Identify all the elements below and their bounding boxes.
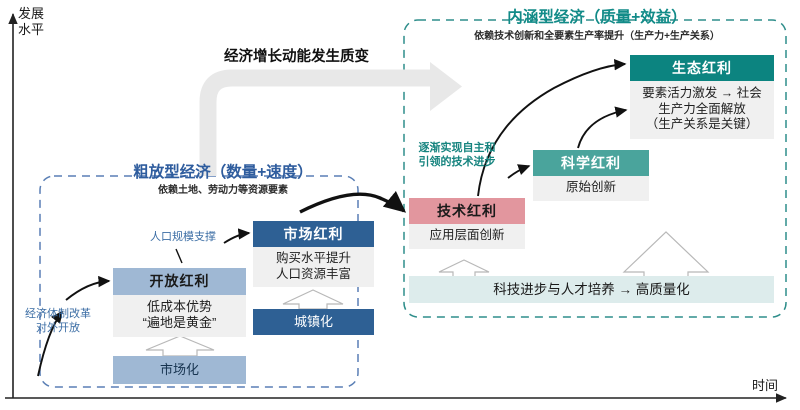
card-open-dividend-body: 低成本优势 “遍地是黄金”	[113, 295, 246, 337]
card-science-dividend-header: 科学红利	[533, 150, 649, 176]
card-market-dividend-header: 市场红利	[253, 221, 374, 247]
tick-population	[176, 249, 182, 263]
annotation-autonomous-tech: 逐渐实现自主和 引领的技术进步	[404, 142, 510, 170]
transition-banner-label: 经济增长动能发生质变	[224, 45, 369, 66]
box-marketization[interactable]: 市场化	[113, 356, 246, 384]
card-market-dividend-body: 购买水平提升 人口资源丰富	[253, 247, 374, 287]
arrow-market-to-tech	[300, 194, 404, 212]
card-tech-dividend-header: 技术红利	[409, 198, 525, 224]
intensive-panel-title: 内涵型经济（质量+效益）	[432, 5, 762, 27]
chevron-bottom-up	[624, 232, 708, 281]
card-eco-dividend[interactable]: 生态红利 要素活力激发 → 社会 生产力全面解放 （生产关系是关键）	[630, 55, 774, 139]
chevron-tech-up	[439, 260, 489, 277]
card-open-dividend-header: 开放红利	[113, 268, 246, 295]
card-science-dividend-body: 原始创新	[533, 176, 649, 201]
card-eco-dividend-header: 生态红利	[630, 55, 774, 81]
chevron-urbanization-up	[283, 290, 343, 309]
extensive-panel-title: 粗放型经济（数量+速度）	[98, 160, 348, 182]
annotation-population-scale: 人口规模支撑	[130, 231, 236, 245]
arrow-tech-to-science	[508, 166, 529, 178]
card-tech-dividend[interactable]: 技术红利 应用层面创新	[409, 198, 525, 249]
intensive-panel-subtitle: 依赖技术创新和全要素生产率提升（生产力+生产关系）	[412, 27, 782, 42]
card-eco-dividend-body: 要素活力激发 → 社会 生产力全面解放 （生产关系是关键）	[630, 81, 774, 139]
box-urbanization[interactable]: 城镇化	[253, 309, 374, 335]
x-axis-label: 时间	[752, 378, 778, 394]
diagram-canvas: 发展 水平 时间 经济增长动能发生质变 粗放型经济（数量+速度） 依赖土地、劳动…	[0, 0, 800, 410]
chevron-marketization-up	[146, 336, 214, 356]
card-tech-dividend-body: 应用层面创新	[409, 224, 525, 249]
card-science-dividend[interactable]: 科学红利 原始创新	[533, 150, 649, 201]
y-axis-label: 发展 水平	[18, 6, 44, 39]
card-open-dividend[interactable]: 开放红利 低成本优势 “遍地是黄金”	[113, 268, 246, 337]
arrow-science-to-eco	[578, 110, 626, 148]
bar-tech-progress-talent: 科技进步与人才培养 → 高质量化	[409, 276, 774, 303]
annotation-economic-reform: 经济体制改革 对外开放	[6, 308, 110, 336]
card-market-dividend[interactable]: 市场红利 购买水平提升 人口资源丰富	[253, 221, 374, 287]
extensive-panel-subtitle: 依赖土地、劳动力等资源要素	[98, 181, 348, 196]
arrow-reform-to-open-2	[66, 281, 109, 300]
